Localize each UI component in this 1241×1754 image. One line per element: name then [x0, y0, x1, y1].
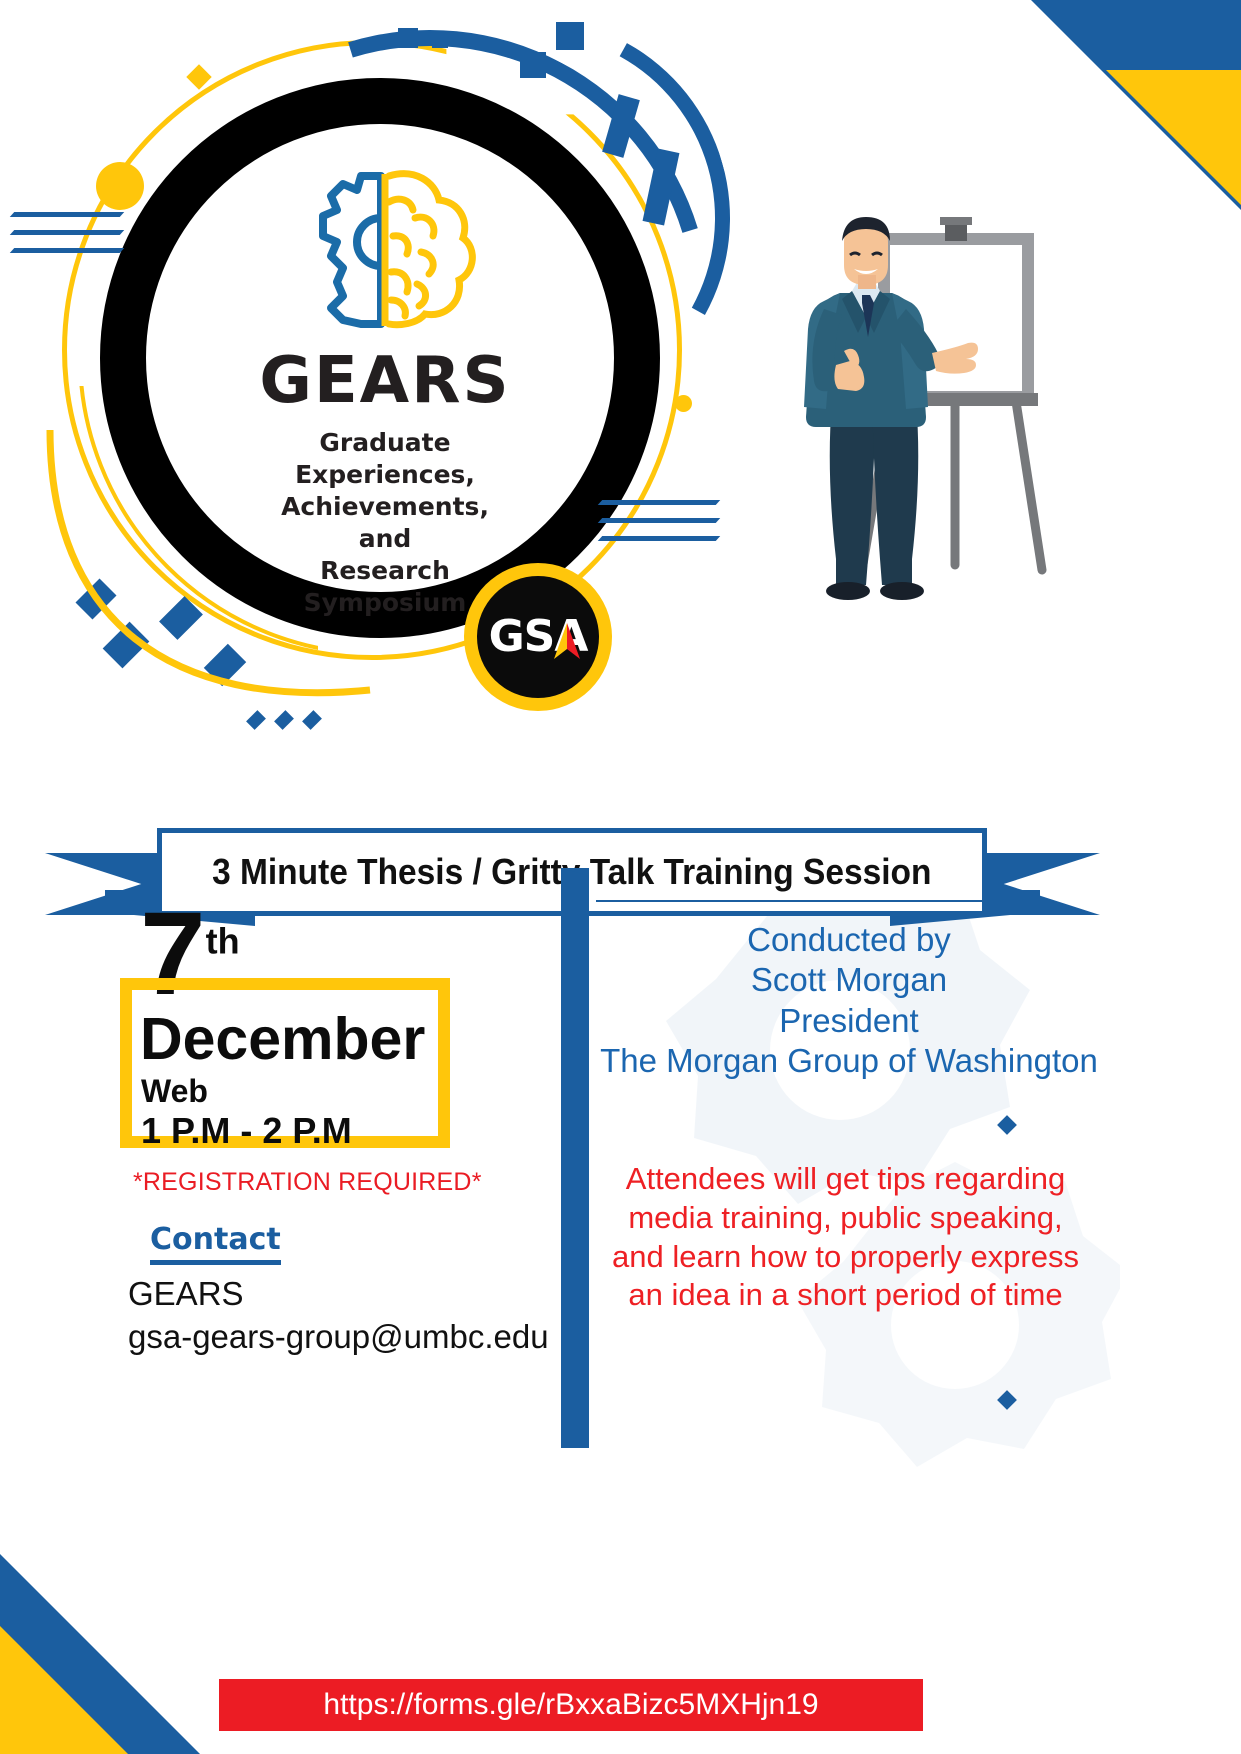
diamond-marker-3 [997, 1390, 1017, 1410]
gears-acronym: GEARS [255, 349, 515, 413]
dot-yellow-small [675, 395, 692, 412]
event-poster: GEARS Graduate Experiences, Achievements… [0, 0, 1241, 1754]
gears-tagline: Graduate Experiences, Achievements, and … [255, 427, 515, 619]
speaker-name: Scott Morgan [589, 960, 1109, 1000]
contact-org: GEARS [128, 1275, 244, 1313]
speaker-organization: The Morgan Group of Washington [589, 1041, 1109, 1081]
gear-brain-icon [285, 160, 485, 340]
contact-email[interactable]: gsa-gears-group@umbc.edu [128, 1318, 549, 1356]
presenter-with-easel-illustration [780, 215, 1070, 605]
speaker-title: President [589, 1001, 1109, 1041]
contact-heading: Contact [150, 1222, 281, 1265]
speaker-line-1: Conducted by [589, 920, 1109, 960]
gears-logo: GEARS Graduate Experiences, Achievements… [255, 160, 515, 619]
speaker-info: Conducted by Scott Morgan President The … [589, 920, 1109, 1081]
horizontal-rule [596, 900, 1006, 902]
event-month: December [140, 1010, 425, 1069]
description-line-2: media training, public speaking, [578, 1199, 1113, 1238]
event-location: Web [141, 1075, 208, 1107]
gears-tagline-line1: Graduate Experiences, [255, 427, 515, 491]
gears-tagline-line2: Achievements, and [255, 491, 515, 555]
square-dash-4 [556, 22, 584, 50]
description-line-3: and learn how to properly express [578, 1238, 1113, 1277]
registration-url[interactable]: https://forms.gle/rBxxaBizc5MXHjn19 [323, 1688, 818, 1722]
event-description: Attendees will get tips regarding media … [578, 1160, 1113, 1315]
description-line-1: Attendees will get tips regarding [578, 1160, 1113, 1199]
hatch-lines-right [600, 500, 718, 554]
event-day-suffix: th [206, 921, 240, 962]
hatch-lines-left [12, 212, 122, 266]
gsa-flame-icon [550, 621, 584, 663]
diamond-marker-2 [997, 1115, 1017, 1135]
square-dash-2 [432, 32, 448, 48]
gsa-badge-label: GSA [464, 611, 612, 662]
registration-url-bar[interactable]: https://forms.gle/rBxxaBizc5MXHjn19 [219, 1679, 923, 1731]
dot-yellow-large [96, 162, 144, 210]
corner-decoration-bottom-left-yellow [0, 1626, 128, 1754]
registration-required-note: *REGISTRATION REQUIRED* [133, 1168, 482, 1197]
gsa-badge: GSA [464, 563, 612, 711]
square-dash-3 [520, 52, 546, 78]
vertical-divider-bar [561, 868, 589, 1448]
description-line-4: an idea in a short period of time [578, 1276, 1113, 1315]
square-dash-1 [398, 28, 418, 48]
corner-decoration-top-right-yellow [1106, 70, 1241, 205]
event-time: 1 P.M - 2 P.M [141, 1113, 352, 1149]
